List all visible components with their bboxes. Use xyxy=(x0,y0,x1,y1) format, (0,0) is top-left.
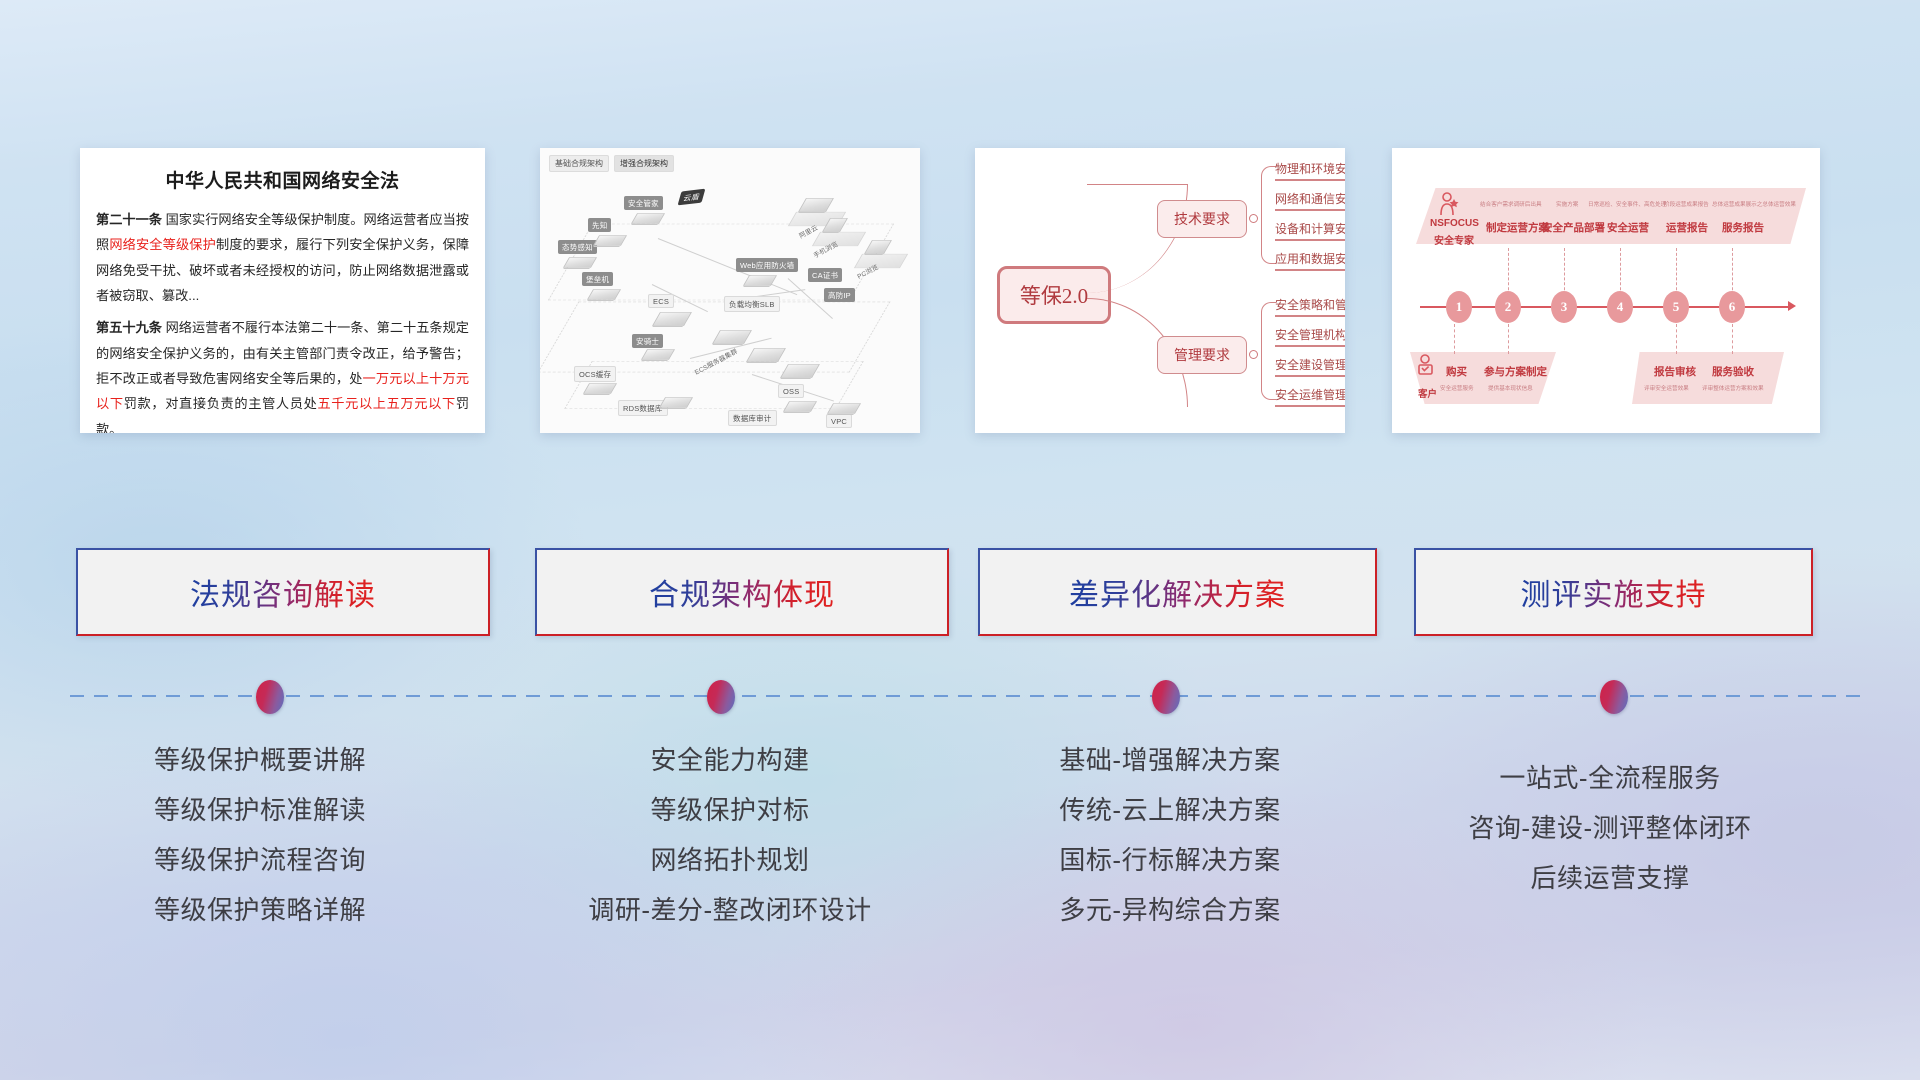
timeline-axis-arrow-icon xyxy=(1788,301,1796,311)
mindmap-branch-management[interactable]: 管理要求 xyxy=(1157,336,1247,374)
list-item[interactable]: 等级保护标准解读 xyxy=(60,785,460,835)
node-box-vpc xyxy=(827,403,861,414)
list-item[interactable]: 后续运营支撑 xyxy=(1400,853,1820,903)
law-title: 中华人民共和国网络安全法 xyxy=(96,166,469,193)
mindmap-collapse-dot-technical[interactable] xyxy=(1249,214,1258,223)
rail-dot-3[interactable] xyxy=(1152,680,1180,714)
detail-list-row: 等级保护概要讲解 等级保护标准解读 等级保护流程咨询 等级保护策略详解 安全能力… xyxy=(0,735,1920,995)
list-item[interactable]: 安全能力构建 xyxy=(520,735,940,785)
timeline-dash-down-2 xyxy=(1508,324,1509,354)
card-mindmap-dengbao[interactable]: 等保2.0 技术要求 管理要求 物理和环境安全 网络和通信安全 设备和计算安全 … xyxy=(975,148,1345,433)
node-label-gaofang-ip: 高防IP xyxy=(824,288,855,302)
law-run-5: 罚款，对直接负责的主管人员处 xyxy=(124,396,318,411)
law-run-6-highlight: 五千元以上五万元以下 xyxy=(317,396,455,411)
list-item[interactable]: 调研-差分-整改闭环设计 xyxy=(520,885,940,935)
node-label-xianzhi: 先知 xyxy=(588,218,611,232)
list-item[interactable]: 等级保护对标 xyxy=(520,785,940,835)
timeline-step-4[interactable]: 4 xyxy=(1607,291,1633,323)
timeline-bottom-sub-3: 评审安全运营效果 xyxy=(1644,384,1689,392)
timeline-dash-down-5 xyxy=(1676,324,1677,354)
timeline-top-title-5[interactable]: 服务报告 xyxy=(1722,220,1764,235)
pillar-box-compliance-architecture[interactable]: 合规架构体现 xyxy=(535,548,949,636)
timeline-top-title-1[interactable]: 制定运营方案 xyxy=(1486,220,1549,235)
card-cloud-architecture[interactable]: 基础合规架构 增强合规架构 云盾 阿里云 xyxy=(540,148,920,433)
timeline-step-2[interactable]: 2 xyxy=(1495,291,1521,323)
pillar-box-assessment-support[interactable]: 测评实施支持 xyxy=(1414,548,1813,636)
node-plate-pc xyxy=(854,254,908,268)
timeline-bottom-title-1[interactable]: 购买 xyxy=(1446,364,1467,379)
law-paragraph-59: 第五十九条 网络运营者不履行本法第二十一条、第二十五条规定的网络安全保护义务的，… xyxy=(96,315,469,433)
detail-list-solution: 基础-增强解决方案 传统-云上解决方案 国标-行标解决方案 多元-异构综合方案 xyxy=(960,735,1380,935)
pillar-label-compliance-architecture: 合规架构体现 xyxy=(649,570,835,614)
expert-person-icon xyxy=(1438,192,1460,216)
timeline-rail xyxy=(70,695,1860,697)
mindmap-leaf-rail-management xyxy=(1261,302,1276,400)
mindmap-leaf-policy-system[interactable]: 安全策略和管理制度 xyxy=(1275,296,1345,317)
node-plate-mobile xyxy=(812,232,866,246)
list-item[interactable]: 等级保护策略详解 xyxy=(60,885,460,935)
card-service-timeline[interactable]: NSFOCUS 安全专家 结合客户需求调研后出具 制定运营方案 实施方案 安全产… xyxy=(1392,148,1820,433)
list-item[interactable]: 多元-异构综合方案 xyxy=(960,885,1380,935)
node-box-oss xyxy=(783,401,817,412)
timeline-bottom-title-2[interactable]: 参与方案制定 xyxy=(1484,364,1547,379)
mindmap-leaf-build-mgmt[interactable]: 安全建设管理 xyxy=(1275,356,1345,377)
mindmap-leaf-ops-mgmt[interactable]: 安全运维管理 xyxy=(1275,386,1345,407)
timeline-bottom-title-3[interactable]: 报告审核 xyxy=(1654,364,1696,379)
mindmap-leaf-app-data[interactable]: 应用和数据安全 xyxy=(1275,250,1345,271)
timeline-top-sub-4: 阶段运营成果报告 xyxy=(1664,200,1709,208)
law-run-1-highlight: 网络安全等级保护 xyxy=(109,237,216,252)
rail-dot-4[interactable] xyxy=(1600,680,1628,714)
mindmap-leaf-rail-technical xyxy=(1261,166,1276,264)
node-label-oss: OSS xyxy=(778,384,804,398)
mindmap-branch-technical[interactable]: 技术要求 xyxy=(1157,200,1247,238)
list-item[interactable]: 一站式-全流程服务 xyxy=(1400,753,1820,803)
timeline-step-1[interactable]: 1 xyxy=(1446,291,1472,323)
mindmap-collapse-dot-management[interactable] xyxy=(1249,350,1258,359)
node-label-ocs-cache: OCS缓存 xyxy=(574,366,616,382)
node-box-security-steward xyxy=(631,213,665,224)
node-label-rds: RDS数据库 xyxy=(618,400,668,416)
node-label-vpc: VPC xyxy=(826,414,852,428)
timeline-step-6[interactable]: 6 xyxy=(1719,291,1745,323)
timeline-top-title-4[interactable]: 运营报告 xyxy=(1666,220,1708,235)
node-label-waf: Web应用防火墙 xyxy=(736,258,798,272)
timeline-customer-name: 客户 xyxy=(1418,386,1437,400)
node-label-ca-cert: CA证书 xyxy=(808,268,842,282)
card-cybersecurity-law[interactable]: 中华人民共和国网络安全法 第二十一条 国家实行网络安全等级保护制度。网络运营者应… xyxy=(80,148,485,433)
pillar-row: 法规咨询解读 合规架构体现 差异化解决方案 测评实施支持 xyxy=(0,548,1920,644)
screenshot-card-row: 中华人民共和国网络安全法 第二十一条 国家实行网络安全等级保护制度。网络运营者应… xyxy=(0,148,1920,438)
node-box-aliyun xyxy=(798,198,834,212)
customer-person-icon xyxy=(1416,354,1436,376)
node-label-anqishi: 安骑士 xyxy=(632,334,663,348)
law-article-label-59: 第五十九条 xyxy=(96,320,162,335)
timeline-provider-role: 安全专家 xyxy=(1434,232,1474,247)
timeline-top-title-2[interactable]: 安全产品部署 xyxy=(1542,220,1605,235)
architecture-canvas: 云盾 阿里云 态势感知 先知 安全管家 堡垒机 ECS 安骑士 xyxy=(540,148,920,433)
timeline-dash-down-1 xyxy=(1454,324,1455,354)
list-item[interactable]: 咨询-建设-测评整体闭环 xyxy=(1400,803,1820,853)
law-paragraph-21: 第二十一条 国家实行网络安全等级保护制度。网络运营者应当按照网络安全等级保护制度… xyxy=(96,207,469,308)
pillar-box-regulation-consulting[interactable]: 法规咨询解读 xyxy=(76,548,490,636)
timeline-step-5[interactable]: 5 xyxy=(1663,291,1689,323)
mindmap-leaf-physical-env[interactable]: 物理和环境安全 xyxy=(1275,160,1345,181)
list-item[interactable]: 国标-行标解决方案 xyxy=(960,835,1380,885)
mindmap-leaf-device-compute[interactable]: 设备和计算安全 xyxy=(1275,220,1345,241)
timeline-canvas: NSFOCUS 安全专家 结合客户需求调研后出具 制定运营方案 实施方案 安全产… xyxy=(1392,148,1820,433)
pillar-label-assessment-support: 测评实施支持 xyxy=(1521,570,1707,614)
detail-list-architecture: 安全能力构建 等级保护对标 网络拓扑规划 调研-差分-整改闭环设计 xyxy=(520,735,940,935)
rail-dot-2[interactable] xyxy=(707,680,735,714)
timeline-top-sub-2: 实施方案 xyxy=(1556,200,1578,208)
list-item[interactable]: 等级保护概要讲解 xyxy=(60,735,460,785)
node-label-db-audit: 数据库审计 xyxy=(728,410,777,426)
timeline-top-title-3[interactable]: 安全运营 xyxy=(1607,220,1649,235)
list-item[interactable]: 传统-云上解决方案 xyxy=(960,785,1380,835)
list-item[interactable]: 基础-增强解决方案 xyxy=(960,735,1380,785)
node-label-bastion: 堡垒机 xyxy=(582,272,613,286)
node-label-cloud: 云盾 xyxy=(678,189,706,206)
mindmap-leaf-network-comm[interactable]: 网络和通信安全 xyxy=(1275,190,1345,211)
timeline-bottom-sub-2: 提供基本现状信息 xyxy=(1488,384,1533,392)
timeline-top-sub-5: 总体运营成果展示之总体运营效果 xyxy=(1712,200,1796,208)
rail-dot-1[interactable] xyxy=(256,680,284,714)
pillar-box-differentiated-solution[interactable]: 差异化解决方案 xyxy=(978,548,1377,636)
node-label-ecs: ECS xyxy=(648,294,674,308)
timeline-bottom-sub-4: 评审整体运营方案和效果 xyxy=(1702,384,1764,392)
node-label-situation-awareness: 态势感知 xyxy=(558,240,597,254)
timeline-band-provider xyxy=(1416,188,1806,244)
timeline-provider-name: NSFOCUS xyxy=(1430,218,1479,229)
node-label-slb: 负载均衡SLB xyxy=(724,296,780,312)
node-label-security-steward: 安全管家 xyxy=(624,196,663,210)
detail-list-assessment: 一站式-全流程服务 咨询-建设-测评整体闭环 后续运营支撑 xyxy=(1400,753,1820,903)
list-item[interactable]: 等级保护流程咨询 xyxy=(60,835,460,885)
detail-list-regulation: 等级保护概要讲解 等级保护标准解读 等级保护流程咨询 等级保护策略详解 xyxy=(60,735,460,935)
list-item[interactable]: 网络拓扑规划 xyxy=(520,835,940,885)
pillar-label-differentiated-solution: 差异化解决方案 xyxy=(1069,570,1286,614)
slide-canvas: 中华人民共和国网络安全法 第二十一条 国家实行网络安全等级保护制度。网络运营者应… xyxy=(0,0,1920,1080)
law-article-label-21: 第二十一条 xyxy=(96,212,162,227)
pillar-label-regulation-consulting: 法规咨询解读 xyxy=(190,570,376,614)
timeline-bottom-sub-1: 安全运营服务 xyxy=(1440,384,1474,392)
law-card-body: 中华人民共和国网络安全法 第二十一条 国家实行网络安全等级保护制度。网络运营者应… xyxy=(80,148,485,433)
timeline-dash-down-6 xyxy=(1732,324,1733,354)
timeline-step-3[interactable]: 3 xyxy=(1551,291,1577,323)
timeline-top-sub-3: 日常巡检、安全事件、高危处理 xyxy=(1588,200,1666,208)
mindmap-leaf-org-personnel[interactable]: 安全管理机构和人员 xyxy=(1275,326,1345,347)
timeline-top-sub-1: 结合客户需求调研后出具 xyxy=(1480,200,1542,208)
timeline-bottom-title-4[interactable]: 服务验收 xyxy=(1712,364,1754,379)
